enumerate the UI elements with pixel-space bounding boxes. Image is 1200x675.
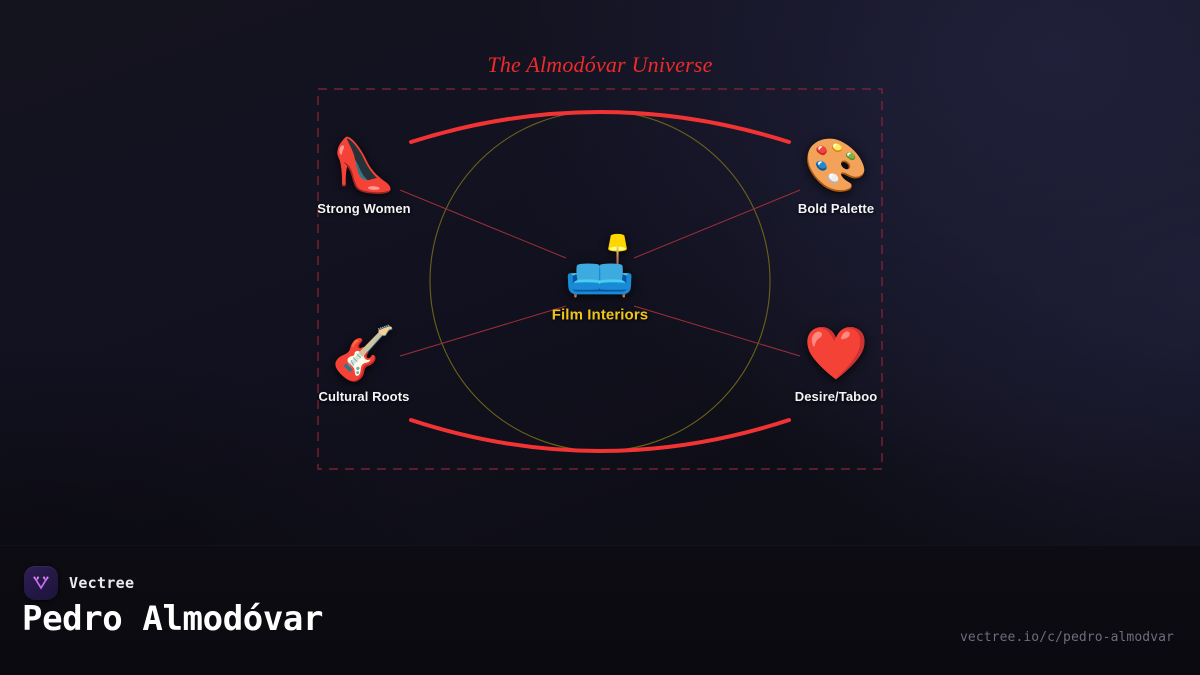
- node-cultural-roots[interactable]: 🎸 Cultural Roots: [279, 328, 449, 404]
- node-label: Desire/Taboo: [751, 389, 921, 404]
- screenshot-root: The Almodóvar Universe 👠 Strong Women �: [0, 0, 1200, 675]
- node-label: Cultural Roots: [279, 389, 449, 404]
- red-heart-icon: ❤️: [751, 328, 921, 380]
- footer-bar: Vectree Pedro Almodóvar vectree.io/c/ped…: [0, 545, 1200, 675]
- vectree-logo-icon: [24, 566, 58, 600]
- bottom-arc: [411, 420, 789, 451]
- couch-and-lamp-icon: 🛋️: [470, 237, 730, 295]
- artist-palette-icon: 🎨: [751, 140, 921, 192]
- entity-title: Pedro Almodóvar: [22, 599, 323, 639]
- node-strong-women[interactable]: 👠 Strong Women: [279, 140, 449, 216]
- node-label: Strong Women: [279, 201, 449, 216]
- diagram-canvas: The Almodóvar Universe 👠 Strong Women �: [0, 0, 1200, 545]
- electric-guitar-icon: 🎸: [279, 328, 449, 380]
- high-heeled-shoe-icon: 👠: [279, 140, 449, 192]
- node-desire-taboo[interactable]: ❤️ Desire/Taboo: [751, 328, 921, 404]
- top-arc: [411, 112, 789, 142]
- node-label: Bold Palette: [751, 201, 921, 216]
- node-bold-palette[interactable]: 🎨 Bold Palette: [751, 140, 921, 216]
- node-film-interiors[interactable]: 🛋️ Film Interiors: [470, 237, 730, 324]
- footer-url: vectree.io/c/pedro-almodvar: [960, 630, 1174, 645]
- hub-label: Film Interiors: [470, 307, 730, 324]
- brand-block[interactable]: Vectree: [24, 566, 134, 600]
- brand-name: Vectree: [69, 574, 134, 592]
